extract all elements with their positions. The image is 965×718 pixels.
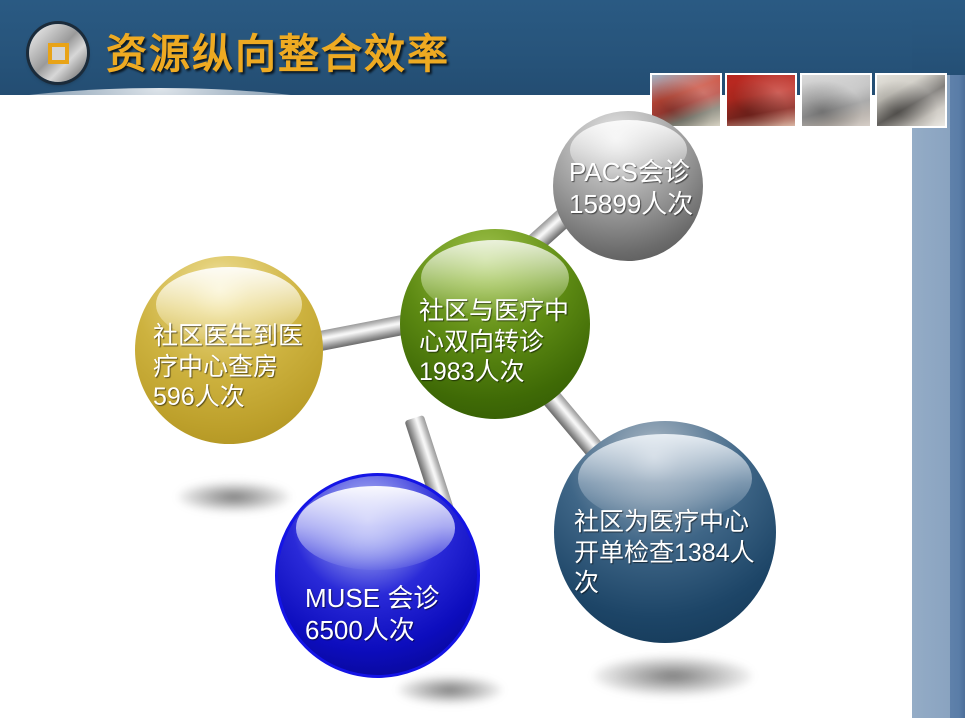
bubble-label-pacs: PACS会诊 15899人次 <box>553 151 693 220</box>
bubble-label-green: 社区与医疗中 心双向转诊 1983人次 <box>400 260 569 388</box>
bubble-label-blue: MUSE 会诊 6500人次 <box>278 505 439 646</box>
bubble-two-way-referral[interactable]: 社区与医疗中 心双向转诊 1983人次 <box>400 229 590 419</box>
bubble-gloss-highlight <box>570 120 687 180</box>
bubble-gloss-highlight <box>296 486 455 570</box>
header-curve-sheen <box>0 88 440 208</box>
bubble-pacs[interactable]: PACS会诊 15899人次 <box>553 111 703 261</box>
photo-doctors-monitor <box>875 73 947 128</box>
shadow-steel <box>594 656 752 696</box>
bubble-gloss-highlight <box>578 434 751 523</box>
page-title: 资源纵向整合效率 <box>106 20 450 80</box>
presentation-slide: 资源纵向整合效率 社区医生到医 疗中心查房 596人次 PACS会诊 15899… <box>0 0 965 718</box>
header-band-right-extension <box>912 0 965 75</box>
slide-logo-icon <box>29 24 87 82</box>
square-badge-icon <box>48 43 69 64</box>
bubble-muse-consult[interactable]: MUSE 会诊 6500人次 <box>275 473 480 678</box>
thumbnail-strip <box>650 73 947 128</box>
shadow-gold <box>178 482 290 512</box>
photo-award-ceremony <box>725 73 797 128</box>
bubble-community-orders-exam[interactable]: 社区为医疗中心 开单检查1384人 次 <box>554 421 776 643</box>
bubble-gloss-highlight <box>156 267 303 342</box>
bubble-community-doctor-rounds[interactable]: 社区医生到医 疗中心查房 596人次 <box>135 256 323 444</box>
bubble-label-gold: 社区医生到医 疗中心查房 596人次 <box>135 287 303 413</box>
photo-ambulance <box>800 73 872 128</box>
right-edge-bar-dark <box>950 0 965 718</box>
bubble-label-steel: 社区为医疗中心 开单检查1384人 次 <box>554 465 755 599</box>
bubble-gloss-highlight <box>421 240 569 316</box>
shadow-blue <box>398 676 502 704</box>
